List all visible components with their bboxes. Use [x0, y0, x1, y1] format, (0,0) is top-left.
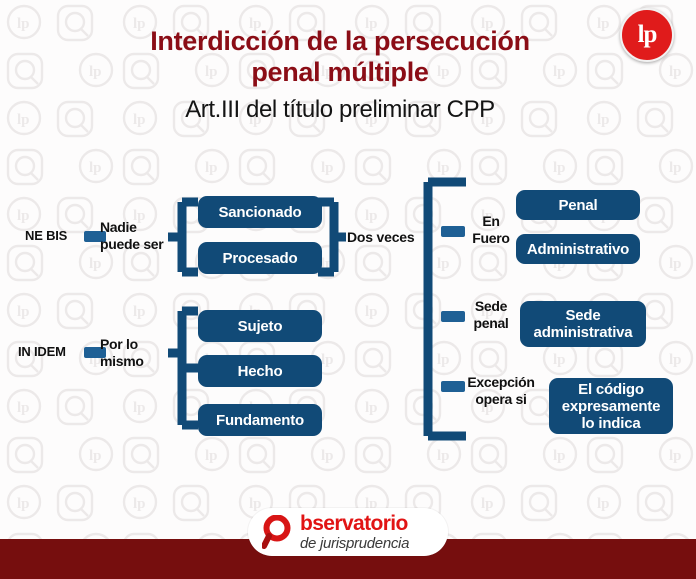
- observatorio-text: bservatorio de jurisprudencia: [300, 513, 409, 552]
- box-line-1: El código: [578, 381, 644, 398]
- node-penal[interactable]: Penal: [516, 190, 640, 220]
- right-label-excepcion: Excepción opera si: [455, 374, 547, 408]
- label-line-2: opera si: [455, 391, 547, 408]
- label-line-1: Excepción: [455, 374, 547, 391]
- lp-circle-logo: lp: [620, 8, 674, 62]
- node-administrativo[interactable]: Administrativo: [516, 234, 640, 264]
- branch-tag-in-idem: IN IDEM: [18, 344, 66, 359]
- node-procesado[interactable]: Procesado: [198, 242, 322, 274]
- node-sede-administrativa[interactable]: Sede administrativa: [520, 301, 646, 347]
- connector-label-dos-veces: Dos veces: [347, 229, 414, 245]
- node-sancionado[interactable]: Sancionado: [198, 196, 322, 228]
- box-line-2: administrativa: [534, 324, 633, 341]
- box-line-3: lo indica: [581, 415, 640, 432]
- label-line-2: Fuero: [458, 230, 524, 247]
- node-sujeto[interactable]: Sujeto: [198, 310, 322, 342]
- label-line-1: En: [458, 213, 524, 230]
- box-line-2: expresamente: [562, 398, 661, 415]
- label-line-1: Sede: [458, 298, 524, 315]
- brand-line-2: de jurisprudencia: [300, 535, 409, 552]
- node-fundamento[interactable]: Fundamento: [198, 404, 322, 436]
- infographic-canvas: lp lp Interdicción de la persecución pen…: [0, 0, 696, 579]
- diagram: NE BIS Nadie puede ser Sancionado Proces…: [0, 0, 696, 579]
- label-line-2: penal: [458, 315, 524, 332]
- node-hecho[interactable]: Hecho: [198, 355, 322, 387]
- branch-tag-ne-bis: NE BIS: [25, 228, 67, 243]
- bracket-ne-bis-right: [308, 196, 348, 278]
- node-el-codigo-expresamente[interactable]: El código expresamente lo indica: [549, 378, 673, 434]
- right-label-sede-penal: Sede penal: [458, 298, 524, 332]
- box-line-1: Sede: [565, 307, 600, 324]
- lp-logo-text: lp: [638, 22, 657, 47]
- brand-line-1: bservatorio: [300, 513, 409, 534]
- magnifier-icon: [262, 515, 296, 549]
- right-label-en-fuero: En Fuero: [458, 213, 524, 247]
- observatorio-logo: bservatorio de jurisprudencia: [248, 508, 448, 556]
